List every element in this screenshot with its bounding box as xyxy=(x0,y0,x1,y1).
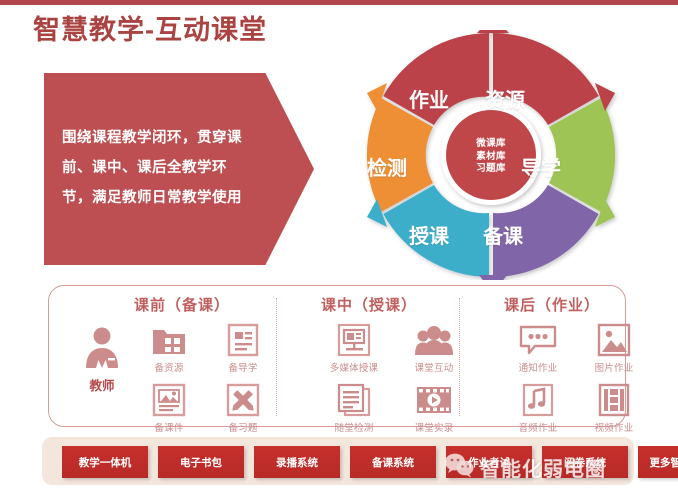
cycle-wheel: 微课库 素材库 习题库 作业 资源 导学 备课 授课 检测 xyxy=(346,30,636,280)
picture-icon xyxy=(583,318,645,362)
teacher-block: 教师 xyxy=(71,326,133,394)
workflow-panel: 课前（备课） 课中（授课） 课后（作业） 教师 xyxy=(48,285,626,427)
item-label: 多媒体授课 xyxy=(321,360,387,374)
hub-line-1: 微课库 xyxy=(451,138,531,151)
pencil-cross-icon xyxy=(213,378,273,422)
top-accent-rule xyxy=(0,0,678,5)
item-label: 图片作业 xyxy=(583,360,645,374)
item-tupianzuoye[interactable]: 图片作业 xyxy=(583,318,645,374)
item-tongzhizuoye[interactable]: 通知作业 xyxy=(507,318,569,374)
chat-bubble-dots-icon xyxy=(507,318,569,362)
item-beidaoxue[interactable]: 备导学 xyxy=(213,318,273,374)
folder-grid-icon xyxy=(139,318,199,362)
wheel-arrow-bottom xyxy=(479,275,507,280)
projector-screen-icon xyxy=(321,318,387,362)
item-label: 课堂实录 xyxy=(401,420,467,434)
item-shipinzuoye[interactable]: 视频作业 xyxy=(583,378,645,434)
item-beiziyuan[interactable]: 备资源 xyxy=(139,318,199,374)
item-yinpinzuoye[interactable]: 音频作业 xyxy=(507,378,569,434)
item-label: 随堂检测 xyxy=(321,420,387,434)
callout-text: 围绕课程教学闭环，贯穿课前、课中、课后全教学环节，满足教师日常教学使用 xyxy=(62,123,252,213)
teacher-label: 教师 xyxy=(71,375,133,394)
item-ketanghudong[interactable]: 课堂互动 xyxy=(401,318,467,374)
item-label: 通知作业 xyxy=(507,360,569,374)
icon-grid-in-class: 多媒体授课 课堂互动 xyxy=(321,318,467,434)
watermark: 智能化弱电圈 xyxy=(444,452,606,483)
item-label: 备资源 xyxy=(139,360,199,374)
wheel-label-zuoye: 作业 xyxy=(409,84,449,113)
wechat-icon xyxy=(444,452,474,483)
wheel-arrow-top xyxy=(477,30,509,33)
wheel-label-shouke: 授课 xyxy=(409,220,449,249)
document-lines-icon xyxy=(213,318,273,362)
music-note-icon xyxy=(507,378,569,422)
icon-grid-before-class: 备资源 备导学 xyxy=(139,318,273,434)
section-divider-1 xyxy=(276,298,277,416)
wheel-label-ziyuan: 资源 xyxy=(485,84,525,113)
section-title-in-class: 课中（授课） xyxy=(321,294,417,315)
bottom-button-4[interactable]: 备课系统 xyxy=(350,446,436,478)
bottom-button-3[interactable]: 录播系统 xyxy=(254,446,340,478)
watermark-text: 智能化弱电圈 xyxy=(480,453,606,482)
item-label: 音频作业 xyxy=(507,420,569,434)
icon-grid-after-class: 通知作业 图片作业 xyxy=(507,318,645,434)
item-label: 备课件 xyxy=(139,420,199,434)
film-play-icon xyxy=(401,378,467,422)
item-duomeitishouke[interactable]: 多媒体授课 xyxy=(321,318,387,374)
slide-image-icon xyxy=(139,378,199,422)
item-beixiti[interactable]: 备习题 xyxy=(213,378,273,434)
hub-line-2: 素材库 xyxy=(451,151,531,164)
papers-stack-icon xyxy=(321,378,387,422)
hub-text-block: 微课库 素材库 习题库 xyxy=(451,138,531,176)
item-suitangjiance[interactable]: 随堂检测 xyxy=(321,378,387,434)
teacher-icon xyxy=(71,326,133,373)
hub-line-3: 习题库 xyxy=(451,163,531,176)
item-label: 备导学 xyxy=(213,360,273,374)
bottom-button-2[interactable]: 电子书包 xyxy=(158,446,244,478)
people-group-icon xyxy=(401,318,467,362)
item-label: 备习题 xyxy=(213,420,273,434)
film-strip-icon xyxy=(583,378,645,422)
item-label: 视频作业 xyxy=(583,420,645,434)
page-title: 智慧教学-互动课堂 xyxy=(33,8,267,47)
section-title-before-class: 课前（备课） xyxy=(134,294,230,315)
bottom-button-1[interactable]: 教学一体机 xyxy=(62,446,148,478)
item-label: 课堂互动 xyxy=(401,360,467,374)
section-title-after-class: 课后（作业） xyxy=(504,294,600,315)
wheel-label-jiance: 检测 xyxy=(367,152,407,181)
wheel-label-daoxue: 导学 xyxy=(521,152,561,181)
wheel-label-beike: 备课 xyxy=(483,220,523,249)
slide-canvas: 智慧教学-互动课堂 围绕课程教学闭环，贯穿课前、课中、课后全教学环节，满足教师日… xyxy=(0,0,678,491)
bottom-button-7[interactable]: 更多智能教具 xyxy=(638,446,678,478)
item-ketangshilu[interactable]: 课堂实录 xyxy=(401,378,467,434)
callout-arrow-box: 围绕课程教学闭环，贯穿课前、课中、课后全教学环节，满足教师日常教学使用 xyxy=(44,73,314,265)
item-beikejian[interactable]: 备课件 xyxy=(139,378,199,434)
